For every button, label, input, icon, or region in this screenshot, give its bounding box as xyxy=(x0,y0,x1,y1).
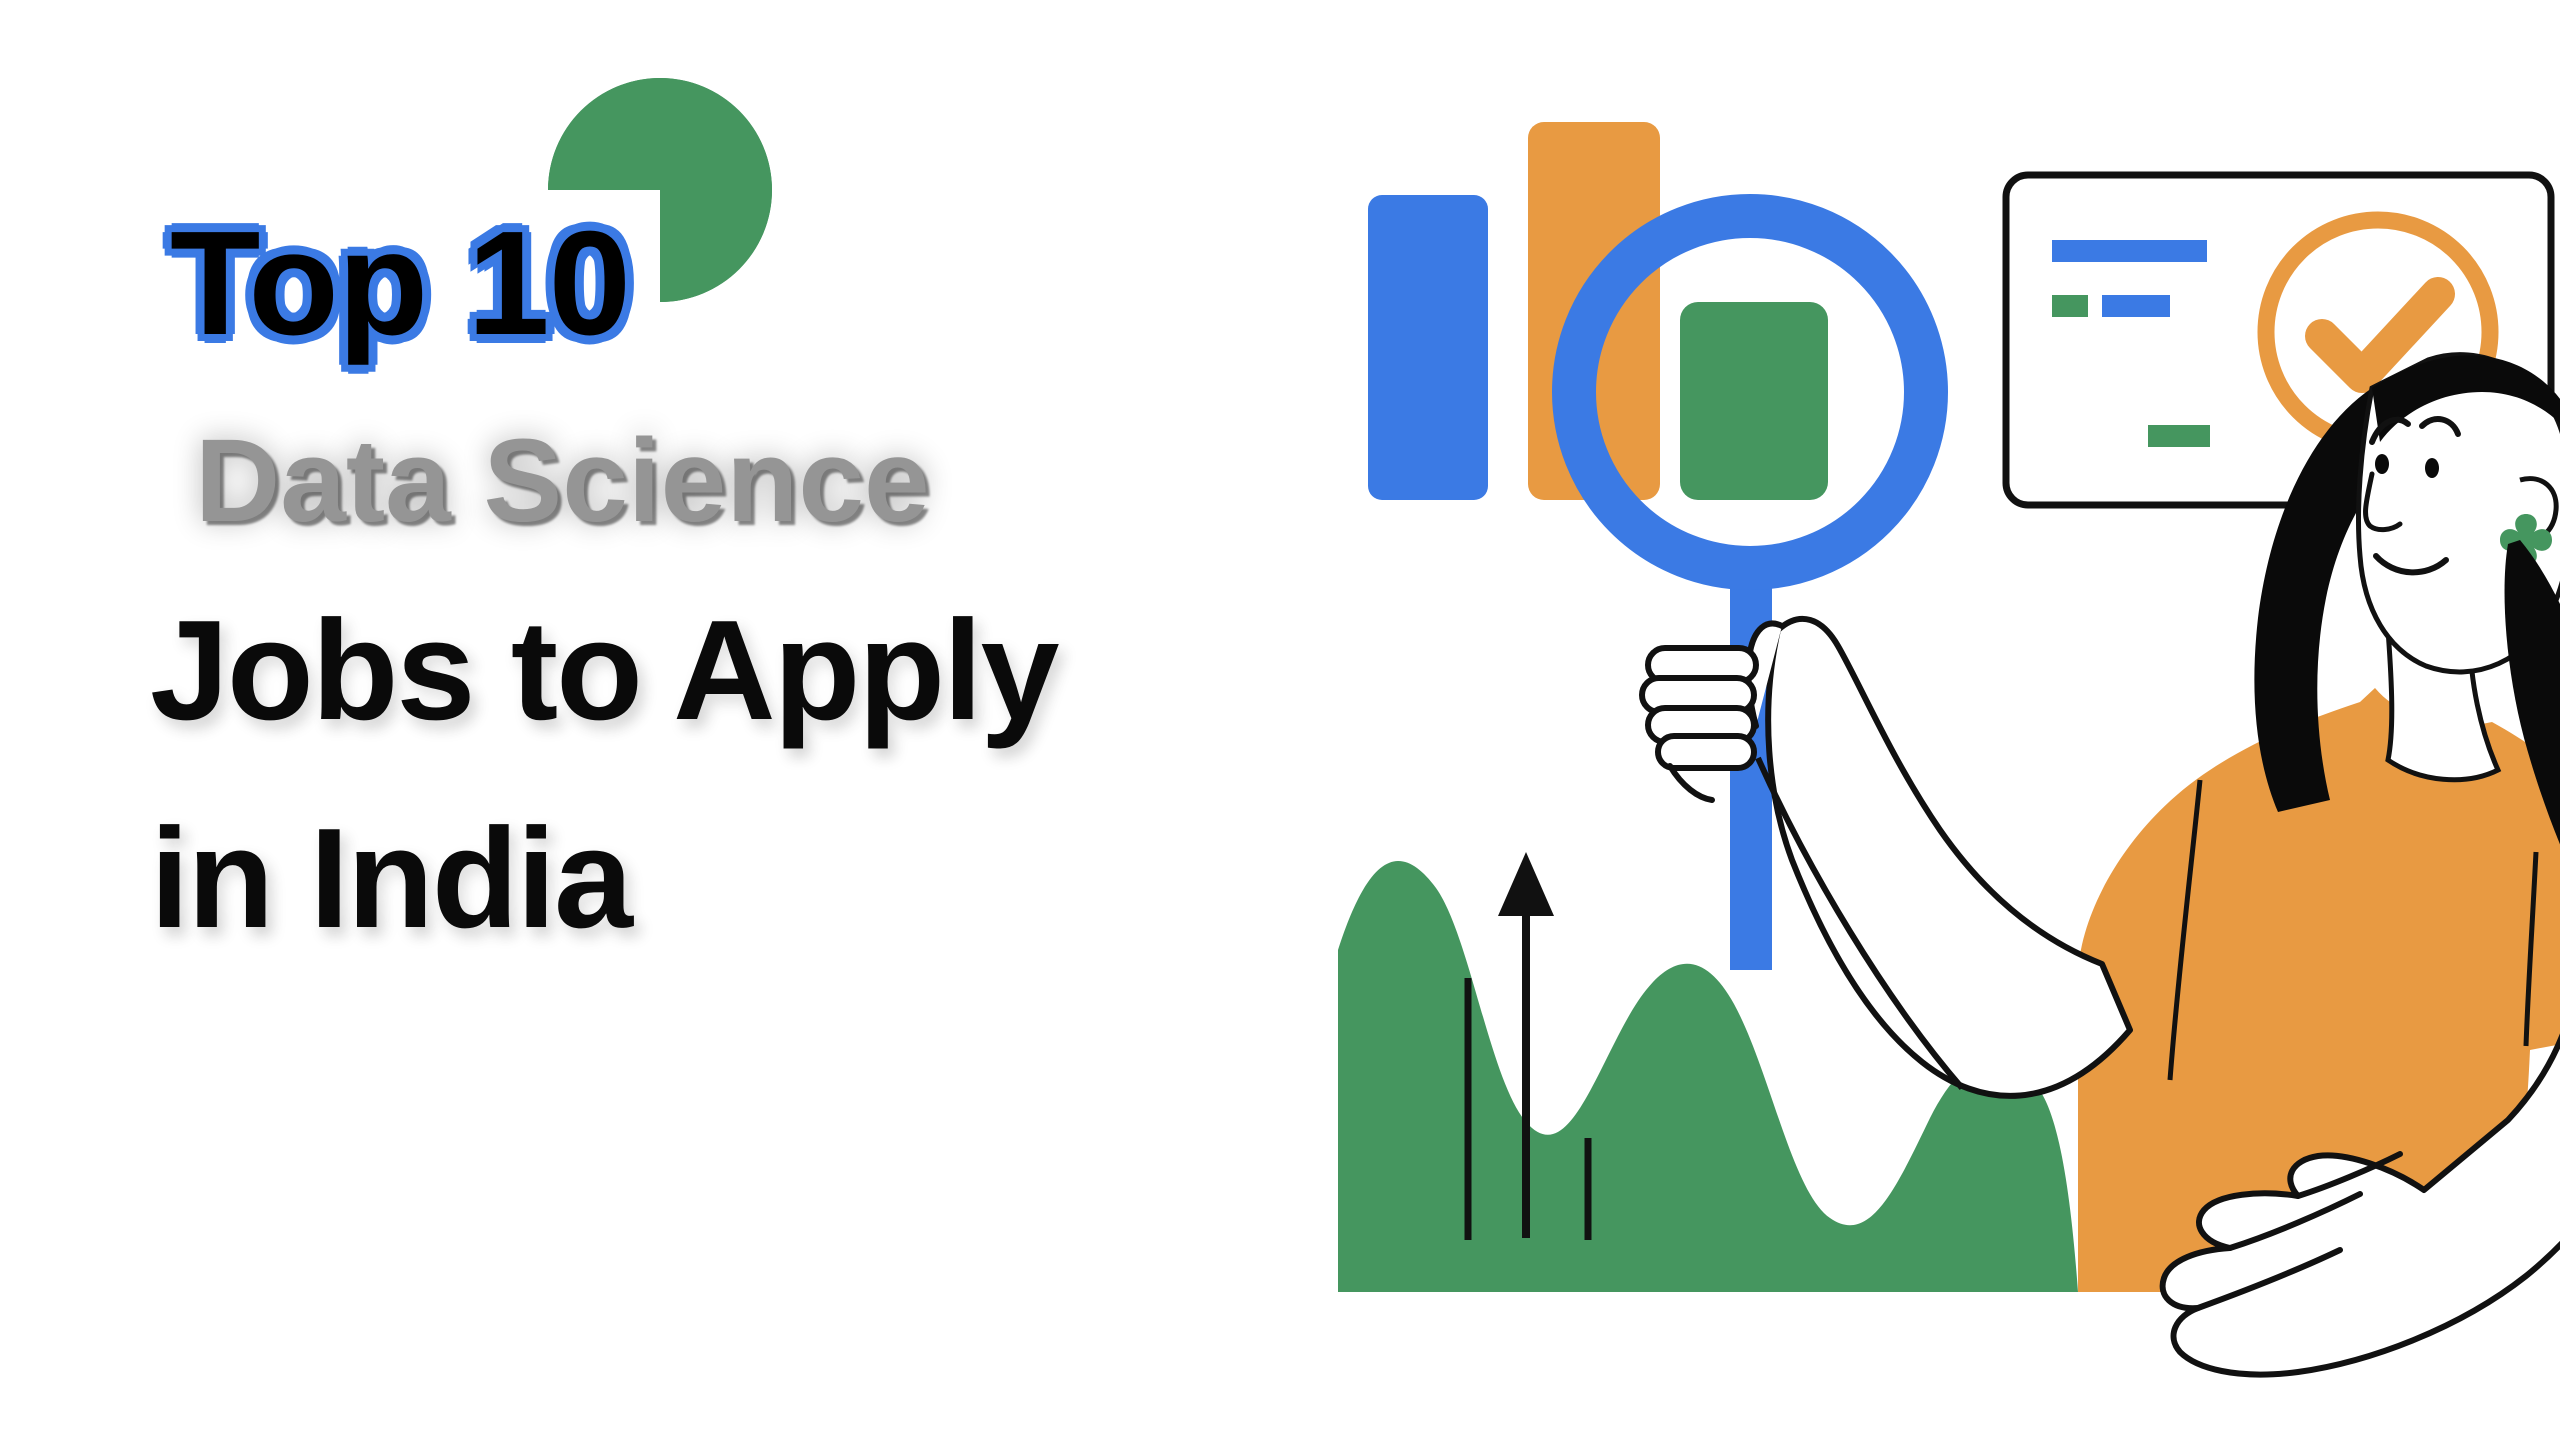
hero-illustration xyxy=(1330,70,2560,1440)
headline-line-1: Jobs to Apply xyxy=(150,600,1058,742)
eye-right xyxy=(2425,458,2439,478)
headline-line-2: in India xyxy=(150,808,631,950)
person-upper-arm xyxy=(1758,619,2130,1096)
eye-left xyxy=(2375,454,2389,474)
card-chip-green xyxy=(2052,295,2088,317)
card-chip-green-2 xyxy=(2148,425,2210,447)
card-bar-blue-short xyxy=(2102,295,2170,317)
headline-eyebrow: Top 10 xyxy=(170,210,630,358)
poster-canvas: Top 10 Data Science Jobs to Apply in Ind… xyxy=(0,0,2560,1440)
headline-subject: Data Science xyxy=(195,422,930,540)
bar-green xyxy=(1680,302,1828,500)
card-bar-blue-long xyxy=(2052,240,2207,262)
bar-blue xyxy=(1368,195,1488,500)
